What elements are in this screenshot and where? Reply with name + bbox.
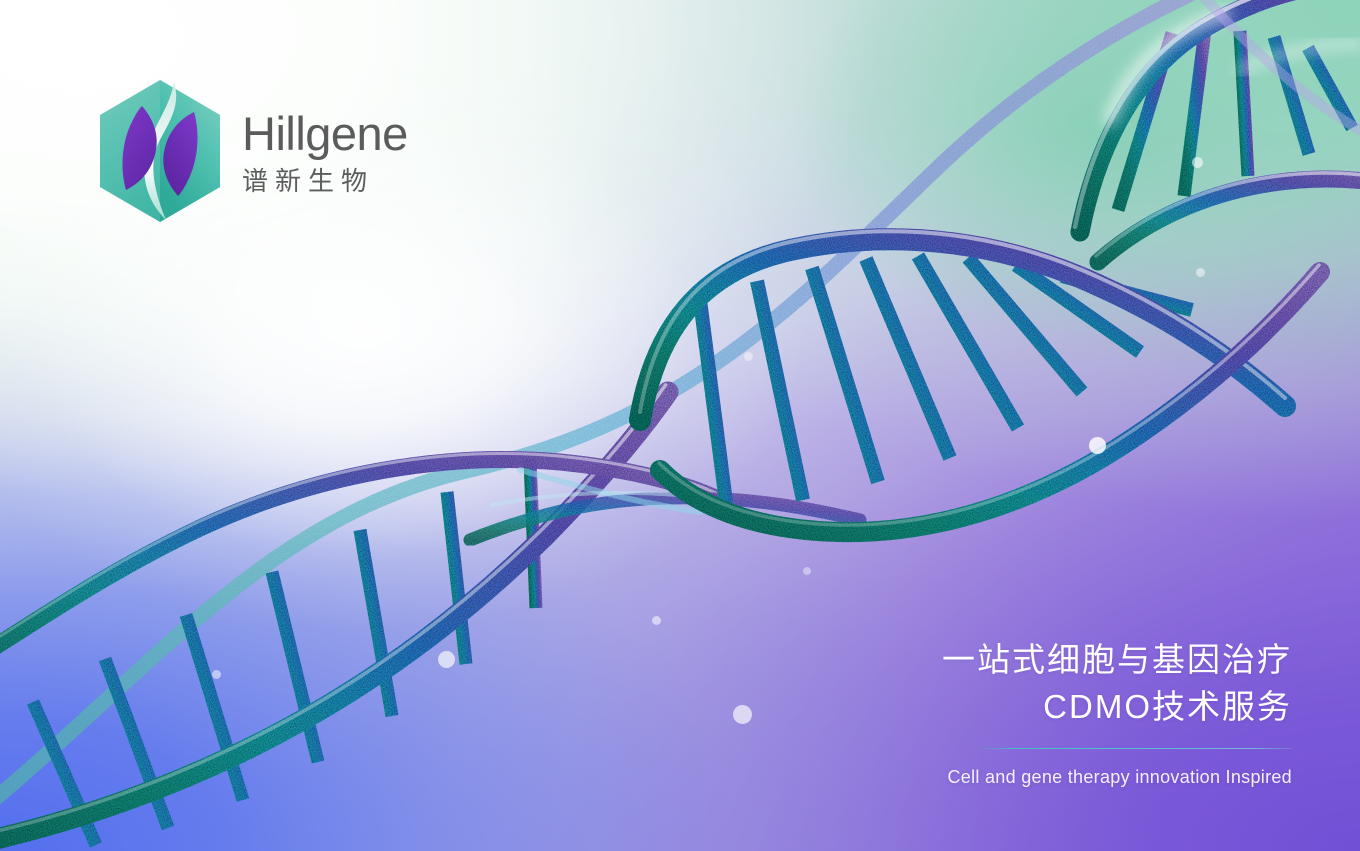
tagline-cn-line-2: CDMO技术服务 bbox=[872, 684, 1292, 731]
hexagon-leaf-logo-icon bbox=[96, 78, 224, 224]
brand-banner: Hillgene 谱新生物 一站式细胞与基因治疗 CDMO技术服务 Cell a… bbox=[0, 0, 1360, 851]
tagline-cn-line-1: 一站式细胞与基因治疗 bbox=[872, 637, 1292, 684]
brand-name-en: Hillgene bbox=[242, 110, 408, 158]
tagline-divider bbox=[980, 748, 1292, 749]
tagline-block: 一站式细胞与基因治疗 CDMO技术服务 Cell and gene therap… bbox=[872, 637, 1292, 789]
logo-wordmark: Hillgene 谱新生物 bbox=[242, 106, 408, 196]
logo-lockup[interactable]: Hillgene 谱新生物 bbox=[96, 78, 408, 224]
tagline-en: Cell and gene therapy innovation Inspire… bbox=[872, 766, 1292, 789]
brand-name-cn: 谱新生物 bbox=[242, 167, 408, 196]
